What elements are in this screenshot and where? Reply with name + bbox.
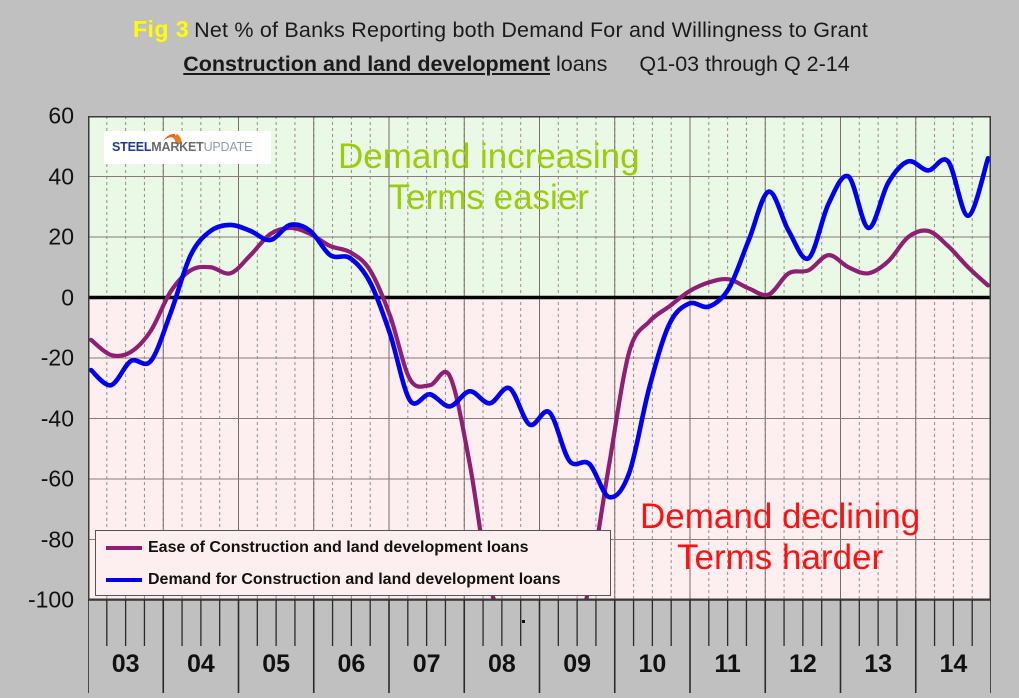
x-tick-label: 06 — [337, 650, 365, 679]
y-tick-label: -100 — [28, 587, 74, 614]
annotation-up-line-2: Terms easier — [338, 177, 640, 218]
y-axis: 60 40 20 0 -20 -40 -60 -80 -100 — [0, 0, 88, 693]
x-tick-label: 13 — [864, 650, 892, 679]
annotation-up-line-1: Demand increasing — [338, 136, 640, 177]
x-axis: 030405060708091011121314 — [88, 600, 991, 693]
logo-wordmark: STEELMARKETUPDATE — [112, 140, 252, 154]
steel-market-update-logo: STEELMARKETUPDATE — [104, 131, 271, 164]
x-tick-label: 14 — [939, 650, 967, 679]
title-date-range: Q1-03 through Q 2-14 — [639, 52, 849, 76]
legend-color-swatch — [106, 578, 142, 582]
legend-item: Demand for Construction and land develop… — [106, 571, 560, 589]
annotation-demand-declining: Demand declining Terms harder — [640, 496, 920, 579]
x-tick-label: 07 — [413, 650, 441, 679]
x-tick-label: 05 — [262, 650, 290, 679]
y-tick-label: -80 — [41, 526, 74, 553]
x-tick-label: 08 — [488, 650, 516, 679]
x-tick-label: 03 — [112, 650, 140, 679]
title-subtitle-text: Net % of Banks Reporting both Demand For… — [194, 18, 868, 42]
legend-label: Demand for Construction and land develop… — [148, 571, 560, 589]
chart-page: Fig 3Net % of Banks Reporting both Deman… — [0, 0, 1019, 693]
y-tick-label: 40 — [48, 163, 74, 190]
logo-word-steel: STEEL — [112, 140, 151, 154]
y-tick-label: 0 — [61, 284, 74, 311]
title-emphasis: Construction and land development — [183, 52, 550, 76]
chart-legend: Ease of Construction and land developmen… — [95, 530, 611, 596]
chart-title-block: Fig 3Net % of Banks Reporting both Deman… — [0, 16, 1019, 77]
logo-word-market: MARKET — [151, 140, 203, 154]
y-tick-label: 60 — [48, 103, 74, 130]
legend-color-swatch — [106, 546, 142, 550]
x-tick-label: 09 — [563, 650, 591, 679]
y-tick-label: -60 — [41, 466, 74, 493]
figure-tag: Fig 3 — [133, 16, 189, 42]
x-tick-label: 10 — [638, 650, 666, 679]
title-line-1: Fig 3Net % of Banks Reporting both Deman… — [0, 16, 1019, 43]
legend-label: Ease of Construction and land developmen… — [148, 539, 529, 557]
legend-item: Ease of Construction and land developmen… — [106, 539, 529, 557]
title-line-2: Construction and land development loans … — [14, 52, 1019, 77]
y-tick-label: 20 — [48, 224, 74, 251]
y-tick-label: -20 — [41, 345, 74, 372]
x-axis-ticks — [88, 600, 991, 693]
x-tick-label: 04 — [187, 650, 215, 679]
x-tick-label: 11 — [714, 650, 740, 679]
annotation-down-line-1: Demand declining — [640, 496, 920, 537]
logo-word-update: UPDATE — [204, 140, 253, 154]
y-tick-label: -40 — [41, 405, 74, 432]
title-loans-word: loans — [556, 52, 607, 76]
annotation-demand-increasing: Demand increasing Terms easier — [338, 136, 640, 219]
x-tick-label: 12 — [789, 650, 817, 679]
annotation-down-line-2: Terms harder — [640, 537, 920, 578]
